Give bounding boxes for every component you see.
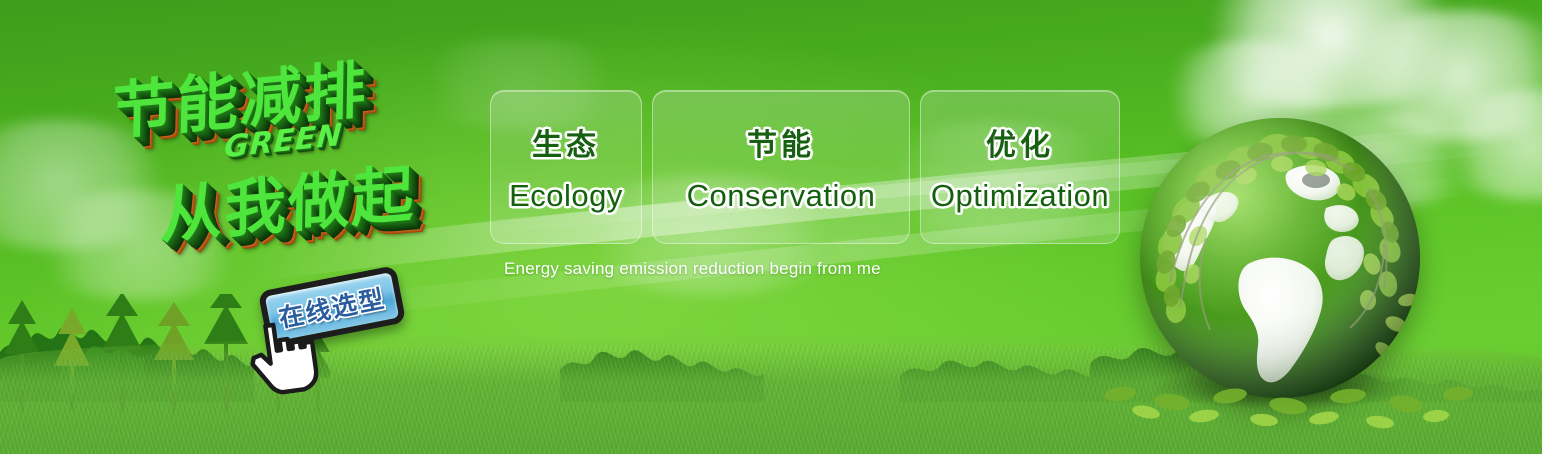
feature-card-title-cn: 优化: [986, 120, 1054, 164]
feature-card-conservation[interactable]: 节能 Conservation: [652, 90, 910, 244]
feature-card-title-en: Optimization: [931, 178, 1109, 214]
feature-card-title-en: Ecology: [509, 178, 623, 214]
headline-3d: 节能减排 GREEN 从我做起: [96, 34, 496, 274]
globe-sphere: [1140, 118, 1420, 398]
leafy-green-globe-icon: [1140, 118, 1430, 418]
feature-card-optimization[interactable]: 优化 Optimization: [920, 90, 1120, 244]
pointing-hand-cursor-icon: [239, 313, 325, 403]
feature-card-list: 生态 Ecology 节能 Conservation 优化 Optimizati…: [490, 90, 1120, 244]
feature-card-title-en: Conservation: [687, 178, 876, 214]
feature-card-ecology[interactable]: 生态 Ecology: [490, 90, 642, 244]
green-energy-banner: 节能减排 GREEN 从我做起 在线选型 生态 Ecology 节能 Conse…: [0, 0, 1542, 454]
cloud-decoration: [1180, 0, 1480, 110]
feature-card-title-cn: 节能: [747, 120, 815, 164]
leaf-litter-decoration: [1080, 366, 1490, 436]
feature-card-title-cn: 生态: [532, 120, 600, 164]
banner-tagline: Energy saving emission reduction begin f…: [504, 259, 881, 279]
headline-line-2: 从我做起: [160, 143, 417, 256]
cloud-decoration: [1430, 90, 1542, 200]
